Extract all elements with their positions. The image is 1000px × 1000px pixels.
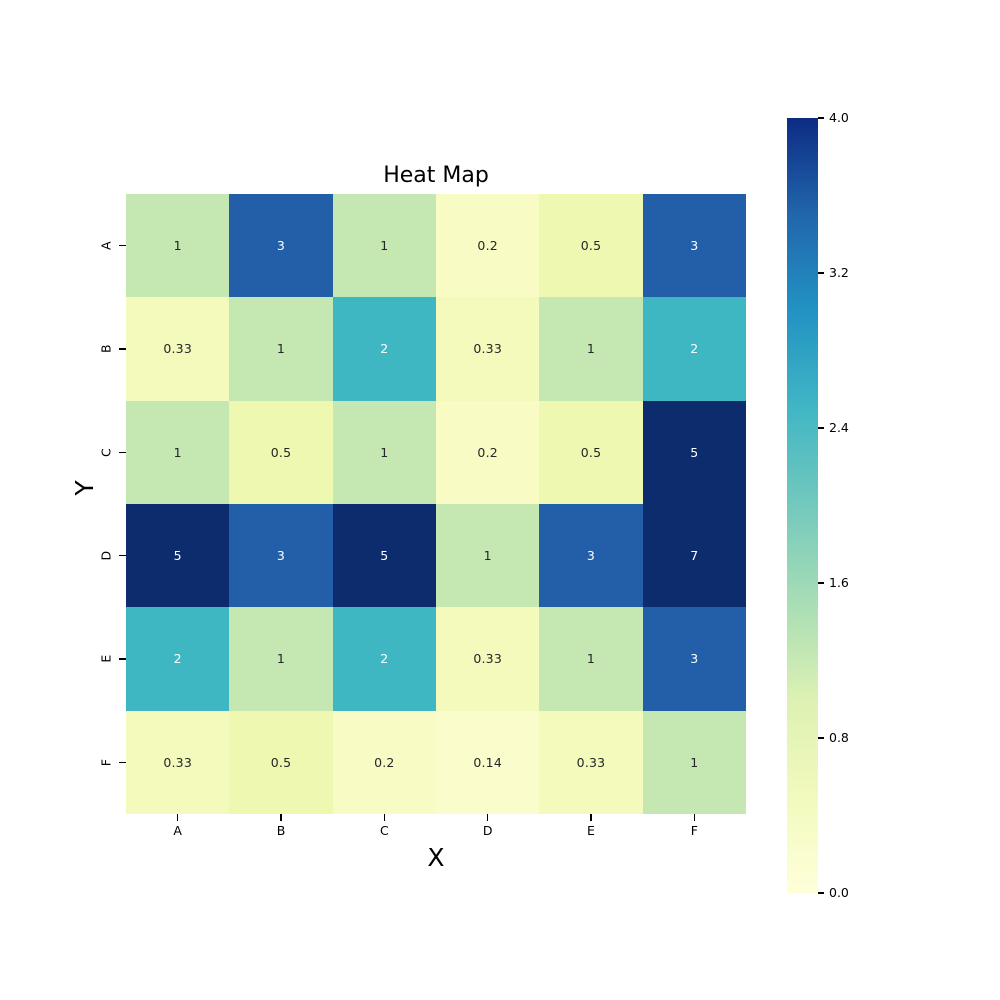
colorbar-tick-mark bbox=[818, 427, 824, 428]
heatmap-cell[interactable]: 0.33 bbox=[436, 297, 539, 400]
y-tick-mark bbox=[119, 194, 126, 297]
heatmap-cell-value: 0.5 bbox=[581, 446, 601, 459]
heatmap-cell-value: 5 bbox=[174, 549, 182, 562]
x-tick-label-a: A bbox=[126, 823, 229, 839]
heatmap-cell[interactable]: 0.33 bbox=[126, 297, 229, 400]
heatmap-cell-value: 1 bbox=[174, 446, 182, 459]
colorbar-tick-label: 3.2 bbox=[829, 265, 849, 281]
heatmap-grid: 1310.20.530.33120.331210.510.20.55535137… bbox=[126, 194, 746, 814]
heatmap-cell[interactable]: 1 bbox=[333, 194, 436, 297]
x-tick-mark bbox=[539, 814, 642, 821]
heatmap-cell[interactable]: 5 bbox=[643, 401, 746, 504]
heatmap-cell[interactable]: 2 bbox=[126, 607, 229, 710]
heatmap-cell[interactable]: 1 bbox=[229, 297, 332, 400]
heatmap-cell-value: 0.2 bbox=[477, 446, 497, 459]
colorbar-tick-mark bbox=[818, 892, 824, 893]
y-axis-title: Y bbox=[71, 458, 99, 518]
heatmap-cell-value: 1 bbox=[690, 756, 698, 769]
heatmap-cell-value: 3 bbox=[587, 549, 595, 562]
colorbar-tick-mark bbox=[818, 582, 824, 583]
heatmap-cell[interactable]: 1 bbox=[229, 607, 332, 710]
page-title: Heat Map bbox=[126, 163, 746, 189]
y-tick-mark bbox=[119, 297, 126, 400]
x-tick-mark bbox=[229, 814, 332, 821]
x-axis-title: X bbox=[126, 843, 746, 873]
heatmap-cell-value: 1 bbox=[587, 652, 595, 665]
x-axis-tick-marks bbox=[126, 814, 746, 821]
heatmap-cell-value: 1 bbox=[277, 342, 285, 355]
heatmap-cell[interactable]: 1 bbox=[333, 401, 436, 504]
heatmap-cell-value: 3 bbox=[277, 549, 285, 562]
heatmap-figure: Heat Map Y ABCDEF 1310.20.530.33120.3312… bbox=[0, 0, 1000, 1000]
x-axis-tick-labels: ABCDEF bbox=[126, 823, 746, 839]
heatmap-cell-value: 5 bbox=[380, 549, 388, 562]
y-tick-mark bbox=[119, 711, 126, 814]
y-axis-tick-marks bbox=[119, 194, 126, 814]
heatmap-cell-value: 0.5 bbox=[271, 756, 291, 769]
heatmap-cell-value: 3 bbox=[690, 239, 698, 252]
y-tick-mark bbox=[119, 401, 126, 504]
heatmap-cell[interactable]: 0.33 bbox=[126, 711, 229, 814]
heatmap-cell[interactable]: 0.33 bbox=[436, 607, 539, 710]
x-tick-label-f: F bbox=[643, 823, 746, 839]
heatmap-cell[interactable]: 3 bbox=[229, 504, 332, 607]
colorbar-tick-mark bbox=[818, 272, 824, 273]
heatmap-cell[interactable]: 0.5 bbox=[229, 711, 332, 814]
heatmap-cell-value: 3 bbox=[277, 239, 285, 252]
heatmap-cell-value: 0.2 bbox=[374, 756, 394, 769]
heatmap-cell-value: 0.33 bbox=[163, 756, 192, 769]
heatmap-cell[interactable]: 0.33 bbox=[539, 711, 642, 814]
heatmap-cell[interactable]: 3 bbox=[643, 194, 746, 297]
heatmap-cell-value: 1 bbox=[277, 652, 285, 665]
heatmap-cell-value: 1 bbox=[174, 239, 182, 252]
x-tick-mark bbox=[436, 814, 539, 821]
colorbar-tick-label: 0.8 bbox=[829, 730, 849, 746]
heatmap-cell[interactable]: 0.2 bbox=[436, 194, 539, 297]
colorbar-tick-label: 4.0 bbox=[829, 110, 849, 126]
heatmap-cell-value: 0.33 bbox=[473, 342, 502, 355]
heatmap-cell-value: 1 bbox=[380, 239, 388, 252]
x-tick-label-d: D bbox=[436, 823, 539, 839]
heatmap-cell-value: 3 bbox=[690, 652, 698, 665]
heatmap-cell[interactable]: 1 bbox=[436, 504, 539, 607]
heatmap-cell-value: 0.14 bbox=[473, 756, 502, 769]
x-tick-label-e: E bbox=[539, 823, 642, 839]
heatmap-cell[interactable]: 1 bbox=[126, 401, 229, 504]
heatmap-cell-value: 0.5 bbox=[271, 446, 291, 459]
x-tick-mark bbox=[126, 814, 229, 821]
colorbar-tick-mark bbox=[818, 737, 824, 738]
heatmap-cell-value: 2 bbox=[380, 652, 388, 665]
heatmap-cell[interactable]: 3 bbox=[539, 504, 642, 607]
y-tick-mark bbox=[119, 607, 126, 710]
heatmap-cell[interactable]: 2 bbox=[333, 297, 436, 400]
heatmap-cell-value: 2 bbox=[174, 652, 182, 665]
heatmap-cell[interactable]: 0.14 bbox=[436, 711, 539, 814]
heatmap-cell-value: 0.33 bbox=[473, 652, 502, 665]
colorbar[interactable]: 0.00.81.62.43.24.0 bbox=[787, 118, 818, 893]
y-axis-tick-labels: ABCDEF bbox=[96, 194, 116, 814]
x-tick-label-b: B bbox=[229, 823, 332, 839]
x-tick-mark bbox=[643, 814, 746, 821]
heatmap-cell[interactable]: 0.2 bbox=[436, 401, 539, 504]
colorbar-tick-mark bbox=[818, 117, 824, 118]
heatmap-cell[interactable]: 3 bbox=[229, 194, 332, 297]
heatmap-cell[interactable]: 0.5 bbox=[539, 401, 642, 504]
heatmap-cell-value: 0.33 bbox=[163, 342, 192, 355]
heatmap-cell[interactable]: 5 bbox=[126, 504, 229, 607]
heatmap-cell[interactable]: 0.5 bbox=[539, 194, 642, 297]
heatmap-cell-value: 7 bbox=[690, 549, 698, 562]
heatmap-cell[interactable]: 1 bbox=[643, 711, 746, 814]
x-tick-label-c: C bbox=[333, 823, 436, 839]
heatmap-cell[interactable]: 1 bbox=[126, 194, 229, 297]
colorbar-gradient bbox=[787, 118, 818, 893]
heatmap-cell[interactable]: 5 bbox=[333, 504, 436, 607]
heatmap-cell-value: 1 bbox=[484, 549, 492, 562]
colorbar-tick-label: 1.6 bbox=[829, 575, 849, 591]
heatmap-cell[interactable]: 3 bbox=[643, 607, 746, 710]
heatmap-cell-value: 0.33 bbox=[577, 756, 606, 769]
heatmap-cell[interactable]: 1 bbox=[539, 297, 642, 400]
colorbar-tick-label: 0.0 bbox=[829, 885, 849, 901]
heatmap-cell[interactable]: 0.2 bbox=[333, 711, 436, 814]
heatmap-cell[interactable]: 1 bbox=[539, 607, 642, 710]
heatmap-cell-value: 5 bbox=[690, 446, 698, 459]
heatmap-cell-value: 1 bbox=[587, 342, 595, 355]
heatmap-cell[interactable]: 0.5 bbox=[229, 401, 332, 504]
heatmap-cell-value: 0.2 bbox=[477, 239, 497, 252]
x-tick-mark bbox=[333, 814, 436, 821]
heatmap-cell-value: 1 bbox=[380, 446, 388, 459]
heatmap-cell[interactable]: 7 bbox=[643, 504, 746, 607]
y-tick-mark bbox=[119, 504, 126, 607]
heatmap-cell[interactable]: 2 bbox=[333, 607, 436, 710]
colorbar-tick-label: 2.4 bbox=[829, 420, 849, 436]
heatmap-cell[interactable]: 2 bbox=[643, 297, 746, 400]
heatmap-cell-value: 0.5 bbox=[581, 239, 601, 252]
heatmap-cell-value: 2 bbox=[380, 342, 388, 355]
heatmap-cell-value: 2 bbox=[690, 342, 698, 355]
